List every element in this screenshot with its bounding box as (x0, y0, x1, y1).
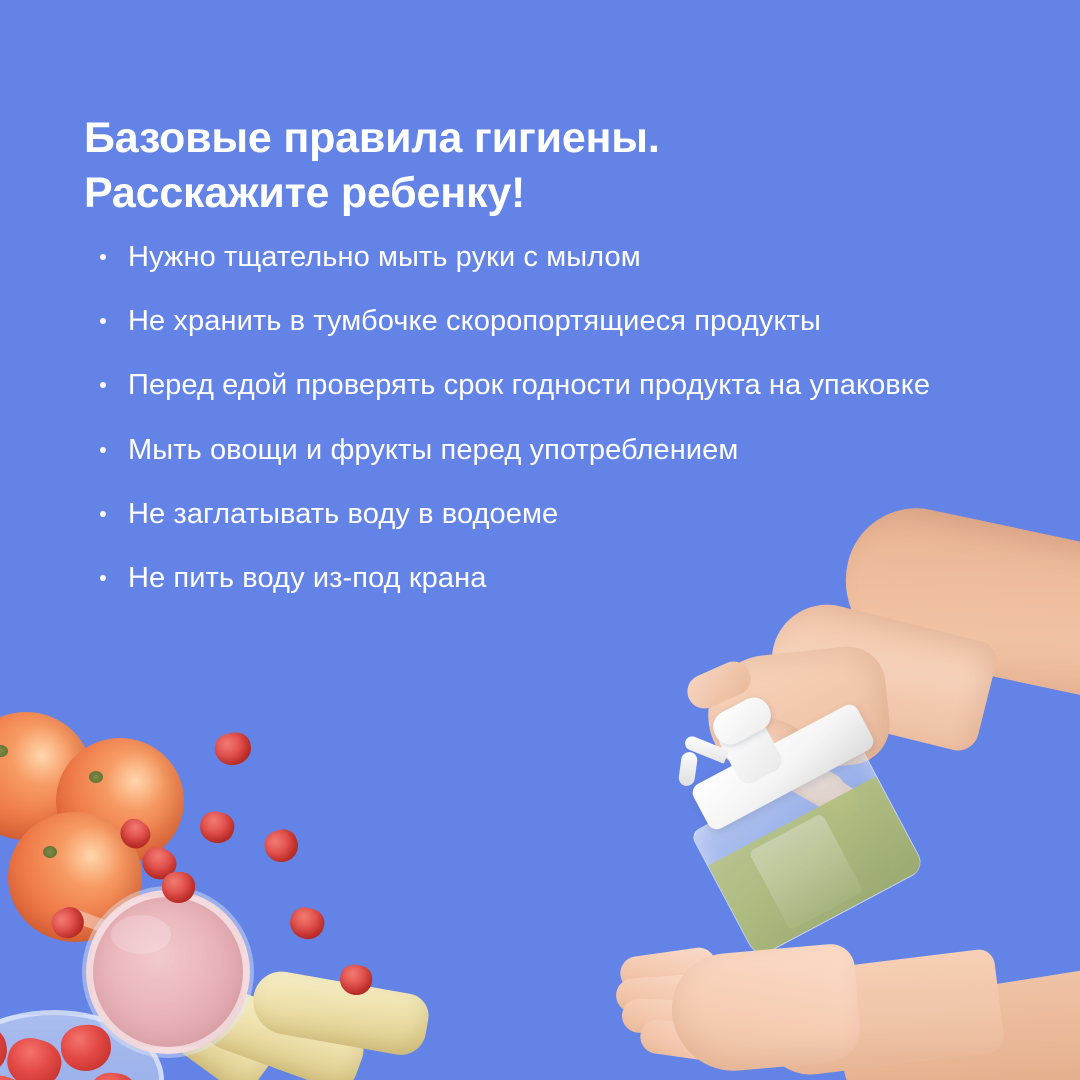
strawberry-fruit (59, 1023, 114, 1074)
raspberry-fruit (286, 904, 327, 943)
list-item-label: Мыть овощи и фрукты перед употреблением (128, 434, 738, 466)
list-item: Мыть овощи и фрукты перед употреблением (96, 430, 996, 471)
bullet-dot-icon (100, 318, 106, 324)
list-item: Не хранить в тумбочке скоропортящиеся пр… (96, 301, 996, 342)
list-item-label: Не пить воду из-под крана (128, 562, 486, 594)
raspberry-fruit (212, 730, 253, 768)
list-item: Нужно тщательно мыть руки с мылом (96, 237, 996, 278)
strawberry-fruit (87, 1071, 140, 1080)
bullet-dot-icon (100, 511, 106, 517)
list-item-label: Перед едой проверять срок годности проду… (128, 369, 930, 401)
soap-pump-spout-tip (678, 751, 699, 787)
pink-smoothie-glass (86, 890, 250, 1054)
list-item: Не заглатывать воду в водоеме (96, 494, 996, 535)
list-item-label: Не хранить в тумбочке скоропортящиеся пр… (128, 305, 821, 337)
raspberry-fruit (261, 826, 302, 867)
lower-hand-palm (667, 942, 863, 1076)
bullet-dot-icon (100, 382, 106, 388)
strawberry-fruit (1, 1032, 66, 1080)
bullet-dot-icon (100, 447, 106, 453)
raspberry-fruit (197, 809, 237, 846)
list-item-label: Нужно тщательно мыть руки с мылом (128, 241, 641, 273)
list-item: Перед едой проверять срок годности проду… (96, 365, 996, 406)
page-title: Базовые правила гигиены. Расскажите ребе… (84, 111, 984, 221)
raspberry-fruit (162, 872, 195, 903)
list-item-label: Не заглатывать воду в водоеме (128, 498, 558, 530)
bullet-dot-icon (100, 575, 106, 581)
bullet-dot-icon (100, 254, 106, 260)
hygiene-rules-poster: Базовые правила гигиены. Расскажите ребе… (0, 0, 1080, 1080)
